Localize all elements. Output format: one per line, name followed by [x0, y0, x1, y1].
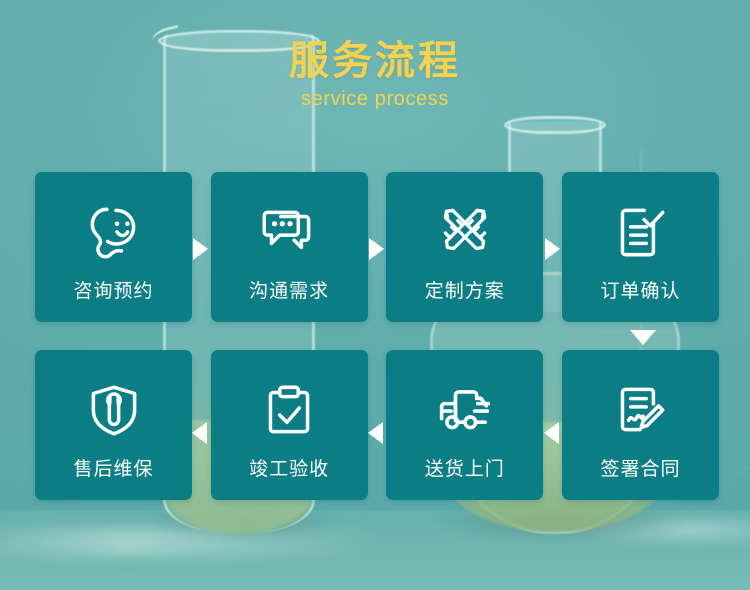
arrow-left-icon-1 — [192, 422, 207, 444]
shield-wrench-icon — [78, 374, 150, 446]
step-card-label: 售后维保 — [73, 460, 153, 479]
flask-rim — [504, 116, 606, 134]
arrow-down-icon — [630, 330, 656, 345]
step-card-label: 咨询预约 — [73, 282, 153, 301]
service-process-banner: 服务流程 service process 咨询预约 — [0, 0, 750, 590]
arrow-right-icon-3 — [545, 238, 560, 260]
arrow-left-icon-3 — [544, 422, 559, 444]
step-card-label: 订单确认 — [600, 282, 680, 301]
process-steps-grid: 咨询预约 沟通需求 — [35, 172, 719, 500]
arrow-right-icon-2 — [369, 238, 384, 260]
page-title: 服务流程 service process — [0, 38, 750, 111]
pencil-ruler-icon — [429, 196, 501, 268]
step-card-label: 竣工验收 — [249, 460, 329, 479]
clipboard-check-icon — [253, 374, 325, 446]
step-card-delivery[interactable]: 送货上门 — [386, 350, 543, 500]
step-card-communicate-needs[interactable]: 沟通需求 — [211, 172, 368, 322]
arrow-left-icon-2 — [368, 422, 383, 444]
step-card-label: 定制方案 — [425, 282, 505, 301]
phone-smile-icon — [78, 196, 150, 268]
page-title-cn: 服务流程 — [0, 38, 750, 84]
step-card-after-sales[interactable]: 售后维保 — [35, 350, 192, 500]
arrow-right-icon-1 — [193, 238, 208, 260]
step-card-label: 签署合同 — [600, 460, 680, 479]
step-card-label: 送货上门 — [425, 460, 505, 479]
step-card-order-confirm[interactable]: 订单确认 — [562, 172, 719, 322]
step-card-label: 沟通需求 — [249, 282, 329, 301]
step-card-custom-plan[interactable]: 定制方案 — [386, 172, 543, 322]
page-title-en: service process — [0, 88, 750, 111]
document-check-icon — [604, 196, 676, 268]
step-card-sign-contract[interactable]: 签署合同 — [562, 350, 719, 500]
contract-sign-icon — [604, 374, 676, 446]
step-card-consultation[interactable]: 咨询预约 — [35, 172, 192, 322]
chat-bubbles-icon — [253, 196, 325, 268]
delivery-truck-icon — [429, 374, 501, 446]
step-card-completion-acceptance[interactable]: 竣工验收 — [211, 350, 368, 500]
